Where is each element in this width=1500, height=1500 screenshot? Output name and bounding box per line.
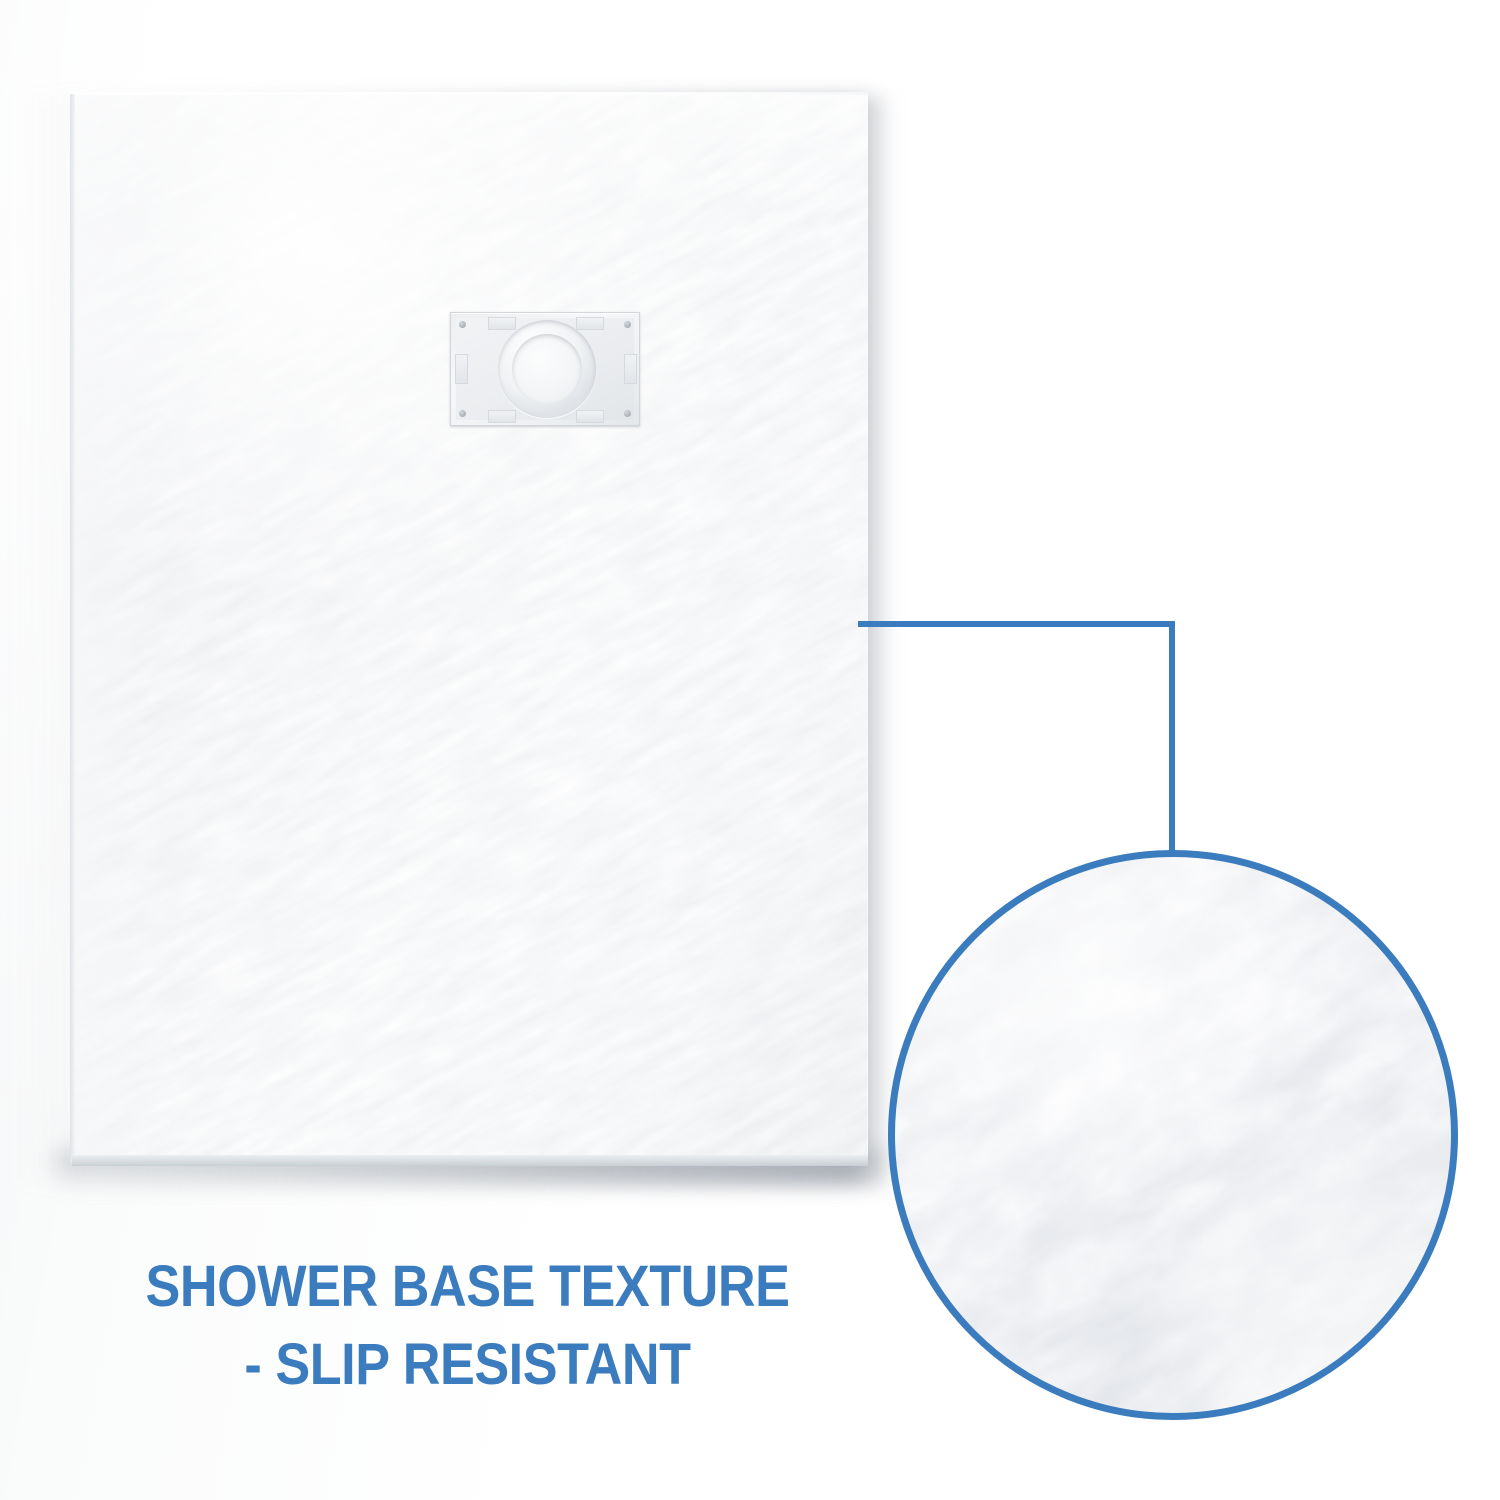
drain-screw-top-left [459, 321, 466, 328]
caption-line-2: - SLIP RESISTANT [47, 1326, 889, 1404]
tray-top-edge-highlight [70, 92, 868, 95]
drain-clip-bottom-left [488, 410, 516, 423]
surface-highlight-sheen [70, 92, 868, 1163]
drain-clip-bottom-right [576, 410, 604, 423]
tray-left-edge [70, 94, 75, 1163]
caption-block: SHOWER BASE TEXTURE - SLIP RESISTANT [47, 1248, 889, 1404]
shower-base-product [70, 92, 868, 1163]
detail-circle-sheen [895, 857, 1451, 1413]
drain-clip-left [455, 354, 468, 384]
tray-front-edge-thickness [72, 1155, 868, 1166]
drain-screw-bottom-right [624, 410, 631, 417]
drain-screw-bottom-left [459, 410, 466, 417]
drain-waste-opening [512, 334, 582, 404]
drain-cover-plate [450, 312, 640, 426]
drain-clip-right [624, 354, 637, 384]
texture-detail-circle [888, 850, 1458, 1420]
product-image-canvas: SHOWER BASE TEXTURE - SLIP RESISTANT [0, 0, 1500, 1500]
drain-clip-top-left [488, 317, 516, 330]
drain-clip-top-right [576, 317, 604, 330]
drain-screw-top-right [624, 321, 631, 328]
caption-line-1: SHOWER BASE TEXTURE [47, 1248, 889, 1326]
